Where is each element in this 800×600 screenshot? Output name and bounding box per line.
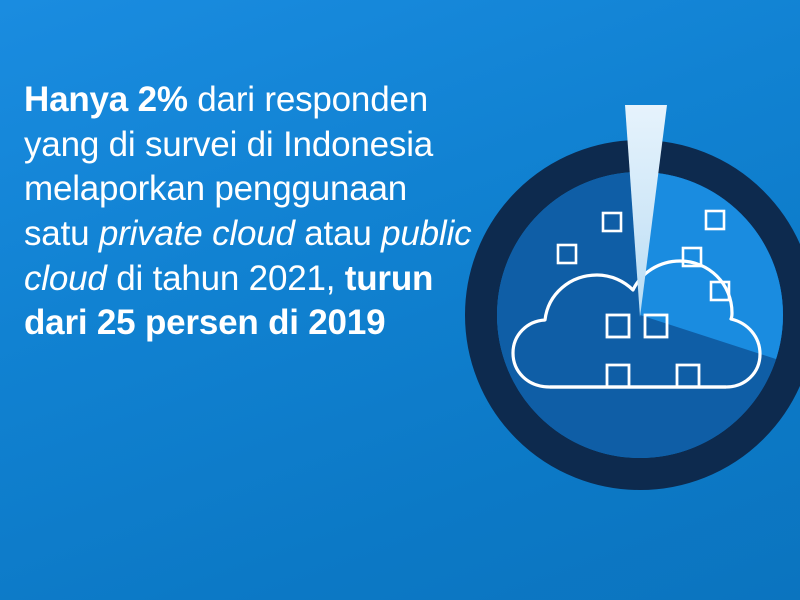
statement-segment-italic-private-cloud: private cloud (99, 214, 295, 253)
statement-segment-bold-lead: Hanya 2% (24, 80, 188, 119)
radar-svg (455, 85, 800, 515)
infographic-canvas: Hanya 2% dari responden yang di survei d… (0, 0, 800, 600)
statement-segment-regular-3: di tahun 2021, (107, 259, 345, 298)
radar-cloud-illustration (455, 85, 800, 515)
statement-text: Hanya 2% dari responden yang di survei d… (24, 78, 476, 346)
statement-segment-regular-2: atau (295, 214, 381, 253)
